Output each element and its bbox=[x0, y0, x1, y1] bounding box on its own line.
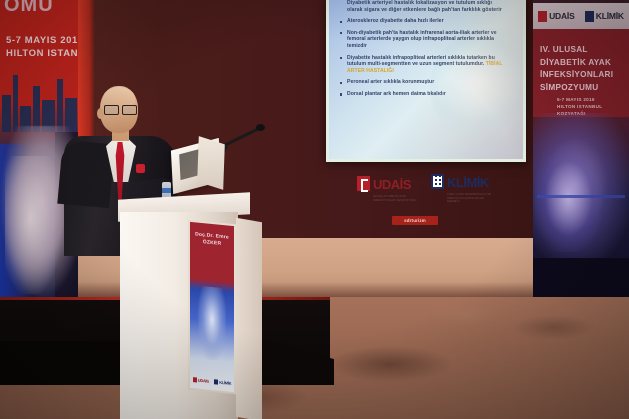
foot-image-right-detail bbox=[535, 145, 602, 252]
slide-heading: Diyabetik arteriyel hastalık lokalizasyo… bbox=[339, 0, 507, 13]
speaker-shoulder bbox=[57, 140, 114, 208]
wall-logo-strip: UDAİS ULUSAL DİYABETİK AYAK İNFEKSİYONLA… bbox=[356, 172, 492, 206]
projection-screen: Diyabetik arteriyel hastalık lokalizasyo… bbox=[326, 0, 526, 162]
podium-panel-artwork: Doç.Dr. Emre ÖZKER UDAİS KLİMİK bbox=[190, 222, 234, 392]
podium-side bbox=[236, 218, 262, 419]
speaker-lapel-pin bbox=[136, 164, 145, 173]
podium-speaker-name: Doç.Dr. Emre ÖZKER bbox=[190, 231, 234, 249]
podium-udais-label: UDAİS bbox=[198, 378, 209, 384]
wall-logo-udais: UDAİS ULUSAL DİYABETİK AYAK İNFEKSİYONLA… bbox=[357, 176, 417, 202]
conference-photo: Diyabetik arteriyel hastalık lokalizasyo… bbox=[0, 0, 629, 419]
wall-logo-klimik-label: KLİMİK bbox=[447, 175, 489, 190]
podium-klimik-label: KLİMİK bbox=[219, 380, 231, 386]
slide-bullet-3: Diyabette hastalık infrapopliteal arterl… bbox=[339, 55, 507, 75]
right-banner-logo-klimik: KLİMİK bbox=[585, 11, 624, 22]
right-banner-bar bbox=[537, 195, 625, 198]
wall-logo-udais-label: UDAİS bbox=[373, 177, 411, 192]
klimik-icon bbox=[431, 174, 444, 189]
foot-image-left-detail bbox=[5, 156, 63, 294]
speaker-head bbox=[100, 86, 138, 133]
left-banner-venue-line: HILTON ISTANBUL KOZYATAGI bbox=[6, 47, 78, 60]
foot-image-podium bbox=[198, 286, 226, 362]
slide-surface: Diyabetik arteriyel hastalık lokalizasyo… bbox=[329, 0, 523, 159]
klimik-icon bbox=[214, 379, 218, 384]
bottle-label bbox=[162, 188, 171, 193]
podium-name-panel: Doç.Dr. Emre ÖZKER UDAİS KLİMİK bbox=[188, 220, 236, 395]
wall-logo-udais-sub: ULUSAL DİYABETİK AYAK İNFEKSİYONLARI SEM… bbox=[373, 195, 417, 202]
sponsor-label: sdrturizm bbox=[404, 218, 426, 223]
right-banner-title: IV. ULUSAL DİYABETİK AYAK İNFEKSİYONLARI… bbox=[540, 44, 626, 94]
right-banner-date: 5-7 MAYIS 2016 bbox=[557, 96, 629, 103]
left-banner-date: 5-7 MAYIS 2016 HILTON ISTANBUL KOZYATAGI bbox=[6, 34, 78, 60]
slide-bullet-1: Ateroskleroz diyabette daha hızlı ilerle… bbox=[339, 18, 507, 25]
podium-logo-strip: UDAİS KLİMİK bbox=[190, 377, 234, 386]
udais-icon bbox=[538, 11, 547, 22]
podium: Doç.Dr. Emre ÖZKER UDAİS KLİMİK bbox=[118, 196, 250, 419]
udais-icon bbox=[193, 377, 197, 382]
microphone-icon bbox=[256, 124, 265, 131]
right-banner-udais-label: UDAİS bbox=[549, 11, 574, 21]
laptop-lid bbox=[197, 136, 225, 190]
slide-bullet-3-text: Diyabette hastalık infrapopliteal arterl… bbox=[347, 55, 495, 68]
right-banner: UDAİS KLİMİK IV. ULUSAL DİYABETİK AYAK İ… bbox=[533, 0, 629, 315]
right-banner-logo-strip: UDAİS KLİMİK bbox=[533, 3, 629, 29]
klimik-icon bbox=[585, 11, 594, 22]
podium-logo-udais: UDAİS bbox=[193, 377, 209, 384]
wall-logo-klimik-sub: TÜRK KLİNİK MİKROBİYOLOJİ VE İNFEKSİYON … bbox=[447, 193, 491, 203]
podium-logo-klimik: KLİMİK bbox=[214, 379, 231, 386]
slide-bullet-4: Peroneal arter sıklıkla korunmuştur bbox=[339, 79, 507, 86]
wall-logo-klimik: KLİMİK TÜRK KLİNİK MİKROBİYOLOJİ VE İNFE… bbox=[431, 174, 491, 203]
left-banner-title: OMU bbox=[4, 0, 78, 17]
left-banner-date-line: 5-7 MAYIS 2016 bbox=[6, 34, 78, 47]
slide-content: Diyabetik arteriyel hastalık lokalizasyo… bbox=[339, 0, 507, 98]
udais-icon bbox=[357, 176, 370, 191]
right-banner-logo-udais: UDAİS bbox=[538, 11, 574, 22]
glasses-icon bbox=[104, 105, 137, 113]
sponsor-badge: sdrturizm bbox=[392, 216, 438, 225]
slide-bullet-2: Non-diyabetik pah'ta hastalık infrarenal… bbox=[339, 30, 507, 50]
slide-bullet-5: Dorsal plantar ark hemen daima tıkalıdır bbox=[339, 91, 507, 98]
speaker-ear bbox=[97, 108, 104, 119]
right-banner-klimik-label: KLİMİK bbox=[596, 11, 624, 21]
